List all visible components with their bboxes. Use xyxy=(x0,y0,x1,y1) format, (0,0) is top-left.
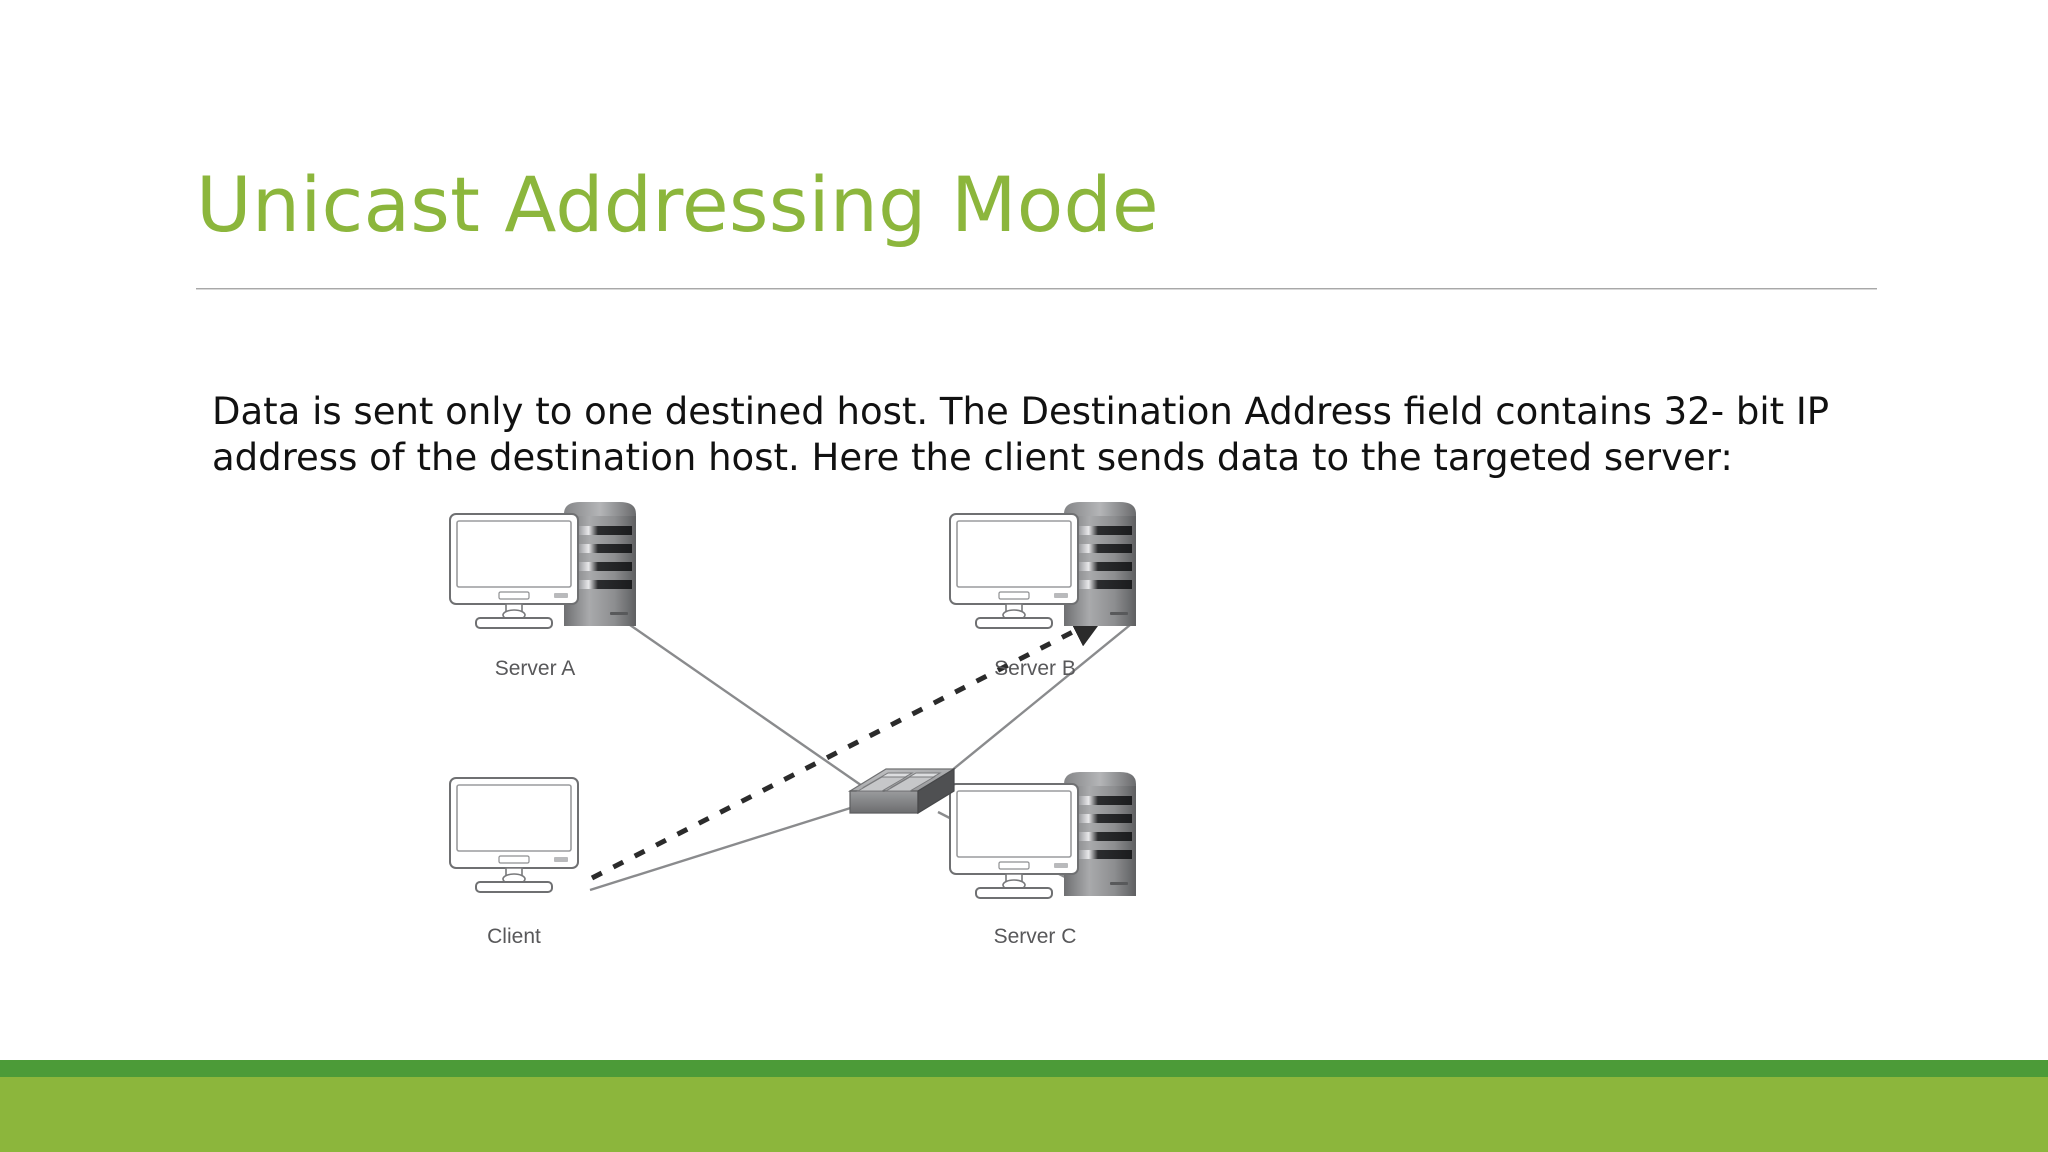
network-diagram: Server A Server B Client Server C xyxy=(440,500,1380,1060)
diagram-label-client: Client xyxy=(487,925,541,948)
link-client-switch xyxy=(590,805,860,890)
diagram-label-server-c: Server C xyxy=(994,925,1077,948)
title-divider xyxy=(196,288,1877,290)
diagram-node-client: Client xyxy=(450,778,578,948)
link-server-b-switch xyxy=(940,625,1130,780)
body-block: Data is sent only to one destined host. … xyxy=(212,352,1912,518)
page-title: Unicast Addressing Mode xyxy=(196,160,1876,250)
footer-accent-bar-light xyxy=(0,1077,2048,1152)
body-paragraph: Data is sent only to one destined host. … xyxy=(212,389,1912,481)
link-server-a-switch xyxy=(630,625,868,790)
title-block: Unicast Addressing Mode xyxy=(196,160,1876,250)
footer-accent-bar-dark xyxy=(0,1060,2048,1077)
diagram-label-server-a: Server A xyxy=(495,657,576,680)
slide-canvas: Unicast Addressing Mode Data is sent onl… xyxy=(0,0,2048,1152)
diagram-node-server-c: Server C xyxy=(950,772,1136,948)
diagram-node-switch xyxy=(850,769,954,817)
network-diagram-svg: Server A Server B Client Server C xyxy=(440,500,1380,1060)
diagram-node-server-a: Server A xyxy=(450,502,636,680)
diagram-label-server-b: Server B xyxy=(994,657,1076,680)
diagram-node-server-b: Server B xyxy=(950,502,1136,680)
